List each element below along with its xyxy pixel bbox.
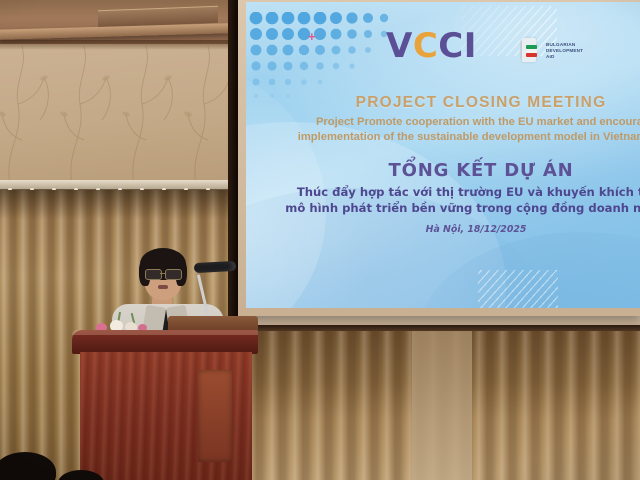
vcci-logo-v: V bbox=[386, 26, 413, 66]
screen-ledge-shadow bbox=[240, 325, 640, 331]
dot-grid-decoration bbox=[248, 12, 398, 102]
conference-photo: + VCCI BULGARIAN DEVELOPMENT AID PROJECT… bbox=[0, 0, 640, 480]
slide-vietnamese-subtitle-line1: Thúc đẩy hợp tác với thị trường EU và kh… bbox=[246, 184, 640, 200]
bulgarian-development-aid-logo: BULGARIAN DEVELOPMENT AID bbox=[520, 38, 583, 64]
slide-english-subtitle-line2: implementation of the sustainable develo… bbox=[246, 130, 640, 145]
wallpaper-vine-pattern bbox=[0, 44, 248, 184]
microphone-gooseneck bbox=[197, 274, 210, 319]
partner-line-3: AID bbox=[546, 54, 583, 60]
vcci-logo: VCCI bbox=[386, 29, 477, 63]
slide-english-title: PROJECT CLOSING MEETING bbox=[246, 94, 640, 112]
podium-front-panel bbox=[80, 352, 252, 480]
podium bbox=[72, 330, 258, 480]
vcci-logo-ci: CI bbox=[438, 26, 477, 66]
podium-center-inlay bbox=[198, 370, 232, 462]
presentation-slide: + VCCI BULGARIAN DEVELOPMENT AID PROJECT… bbox=[246, 2, 640, 308]
slide-english-subtitle: Project Promote cooperation with the EU … bbox=[246, 115, 640, 144]
back-wall bbox=[0, 44, 248, 184]
partner-logo-mark bbox=[520, 38, 542, 64]
slide-english-subtitle-line1: Project Promote cooperation with the EU … bbox=[246, 115, 640, 130]
podium-top bbox=[72, 330, 258, 354]
wall-panel-right bbox=[412, 330, 472, 480]
vcci-logo-sun-c: C bbox=[413, 26, 438, 66]
diagonal-hatch-decoration-lower bbox=[478, 270, 558, 308]
eyeglasses-icon bbox=[144, 269, 182, 279]
plus-accent-icon: + bbox=[308, 30, 316, 43]
slide-vietnamese-title: TỔNG KẾT DỰ ÁN bbox=[246, 160, 640, 181]
slide-date-location: Hà Nội, 18/12/2025 bbox=[246, 224, 640, 235]
curtain-top-shadow bbox=[0, 190, 234, 220]
wall-top-shadow bbox=[0, 44, 248, 50]
microphone bbox=[196, 264, 226, 318]
partner-logo-text: BULGARIAN DEVELOPMENT AID bbox=[546, 42, 583, 60]
speaker-mouth bbox=[158, 285, 168, 289]
slide-vietnamese-subtitle-line2: mô hình phát triển bền vững trong cộng đ… bbox=[246, 200, 640, 216]
slide-vietnamese-subtitle: Thúc đẩy hợp tác với thị trường EU và kh… bbox=[246, 184, 640, 216]
